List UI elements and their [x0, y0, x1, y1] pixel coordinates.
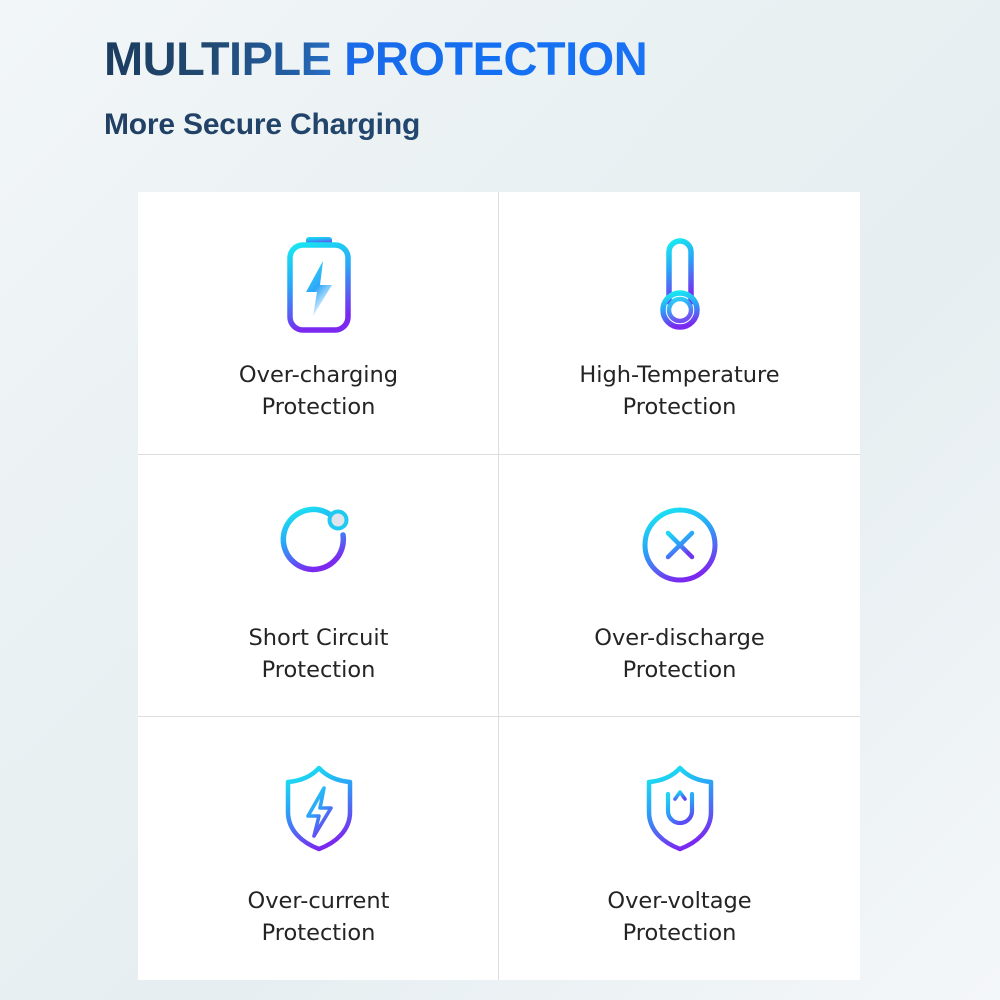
feature-label-line-1: Short Circuit	[249, 625, 389, 651]
thermometer-icon	[648, 228, 712, 336]
feature-cell-high-temperature: High-Temperature Protection	[499, 192, 860, 455]
feature-label-short-circuit: Short Circuit Protection	[249, 623, 389, 687]
feature-label-line-1: Over-charging	[239, 362, 398, 388]
feature-label-line-1: Over-voltage	[607, 888, 751, 914]
feature-label-line-2: Protection	[623, 394, 737, 420]
feature-label-high-temperature: High-Temperature Protection	[579, 360, 779, 424]
feature-cell-over-current: Over-current Protection	[138, 717, 499, 980]
feature-label-line-1: Over-current	[248, 888, 390, 914]
feature-cell-over-voltage: Over-voltage Protection	[499, 717, 860, 980]
feature-label-line-1: Over-discharge	[594, 625, 764, 651]
feature-label-line-2: Protection	[262, 657, 376, 683]
open-circuit-icon	[275, 491, 363, 599]
feature-label-over-voltage: Over-voltage Protection	[607, 886, 751, 950]
feature-label-line-2: Protection	[262, 920, 376, 946]
page-title-part-one: MULTIPLE	[104, 32, 332, 85]
page-title-part-two: PROTECTION	[344, 32, 647, 85]
feature-label-line-2: Protection	[623, 657, 737, 683]
feature-label-over-discharge: Over-discharge Protection	[594, 623, 764, 687]
feature-cell-over-discharge: Over-discharge Protection	[499, 455, 860, 718]
protection-feature-grid: Over-charging Protection	[138, 192, 860, 980]
feature-cell-short-circuit: Short Circuit Protection	[138, 455, 499, 718]
page-title: MULTIPLE PROTECTION	[104, 34, 924, 83]
page-subtitle: More Secure Charging	[104, 108, 924, 142]
shield-voltage-icon	[640, 754, 720, 862]
feature-cell-over-charging: Over-charging Protection	[138, 192, 499, 455]
feature-label-over-charging: Over-charging Protection	[239, 360, 398, 424]
circle-x-icon	[637, 491, 723, 599]
feature-label-line-2: Protection	[262, 394, 376, 420]
battery-charging-icon	[282, 228, 356, 336]
shield-bolt-icon	[279, 754, 359, 862]
page-header: MULTIPLE PROTECTION More Secure Charging	[104, 34, 924, 142]
feature-label-line-1: High-Temperature	[579, 362, 779, 388]
feature-label-over-current: Over-current Protection	[248, 886, 390, 950]
feature-label-line-2: Protection	[623, 920, 737, 946]
